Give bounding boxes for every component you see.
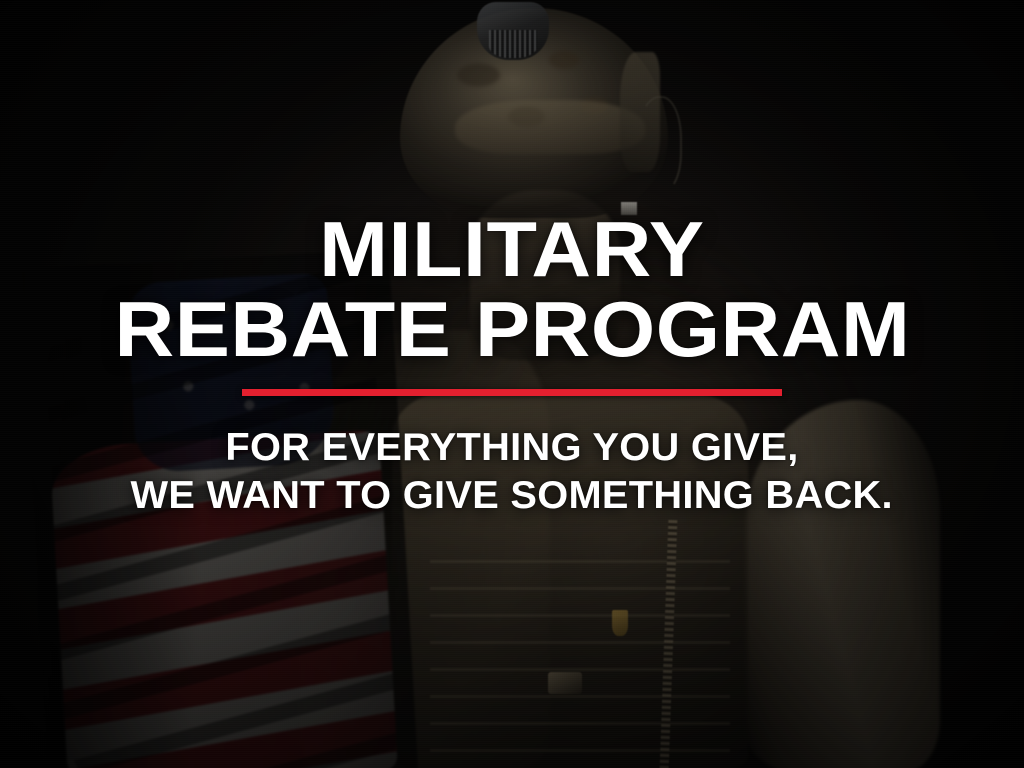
red-divider-rule bbox=[242, 389, 782, 396]
headline-line-2: REBATE PROGRAM bbox=[114, 292, 910, 368]
subheadline-line-1: FOR EVERYTHING YOU GIVE, bbox=[225, 426, 798, 470]
subheadline-line-2: WE WANT TO GIVE SOMETHING BACK. bbox=[131, 474, 893, 518]
text-overlay: MILITARY REBATE PROGRAM FOR EVERYTHING Y… bbox=[0, 0, 1024, 768]
military-rebate-poster: MILITARY REBATE PROGRAM FOR EVERYTHING Y… bbox=[0, 0, 1024, 768]
headline-line-1: MILITARY bbox=[319, 212, 704, 288]
